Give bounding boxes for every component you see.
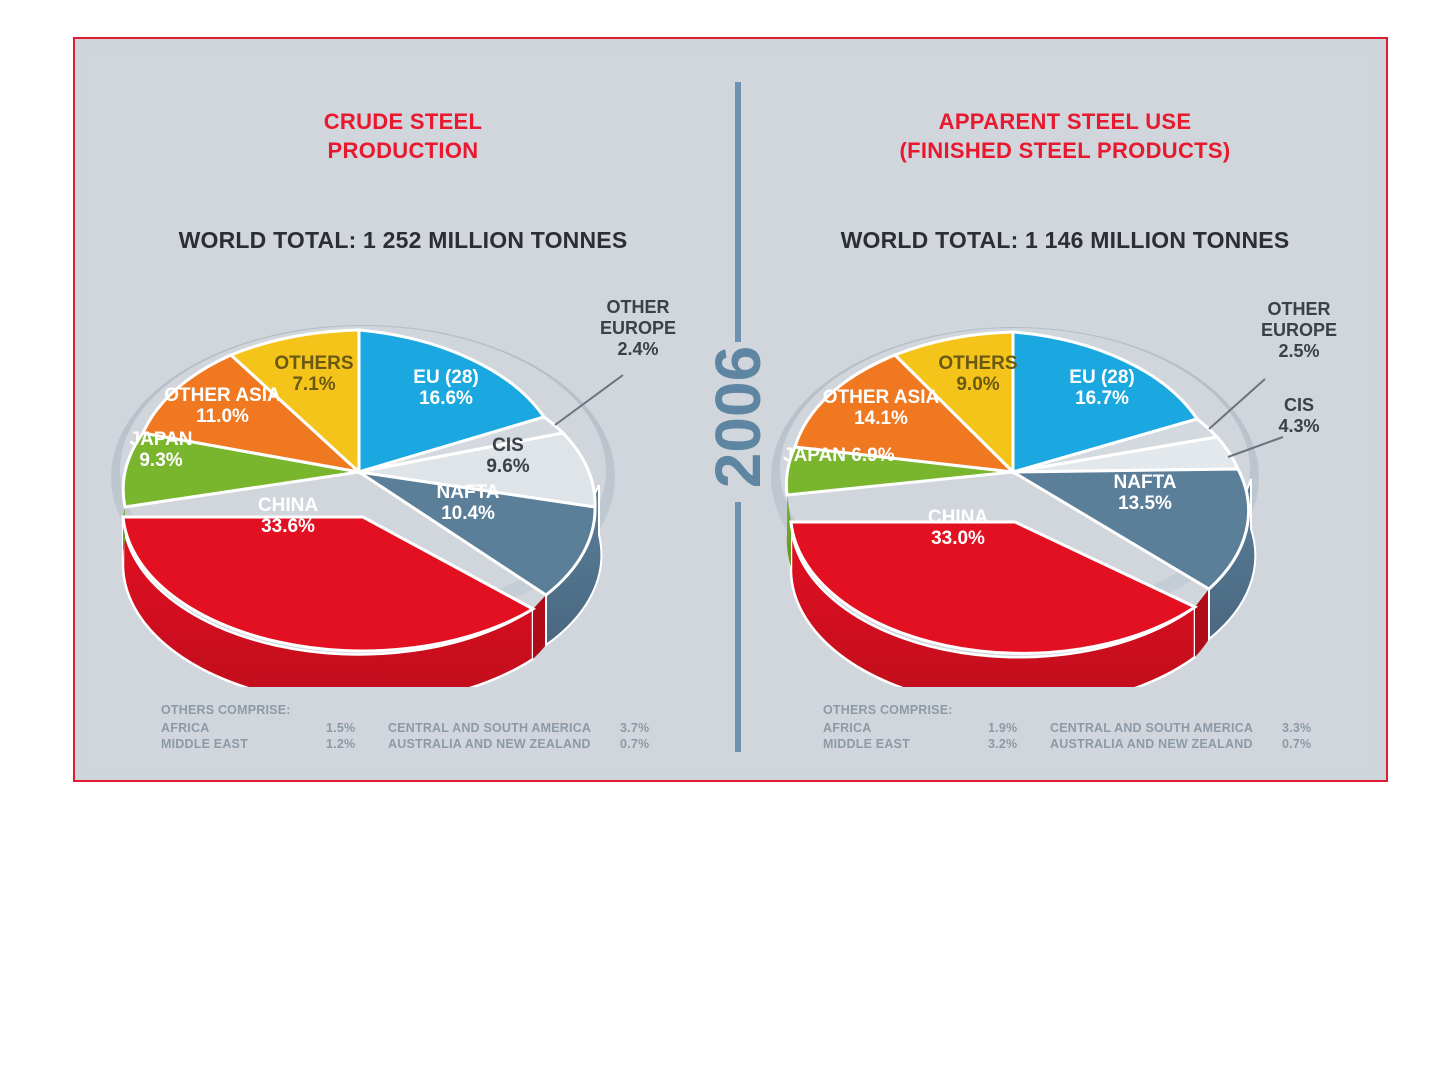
footnote-cell: 3.3% bbox=[1282, 720, 1343, 736]
table-row: AFRICA 1.9% CENTRAL AND SOUTH AMERICA 3.… bbox=[823, 720, 1343, 736]
table-row: MIDDLE EAST 3.2% AUSTRALIA AND NEW ZEALA… bbox=[823, 736, 1343, 752]
title-line-1: CRUDE STEEL bbox=[73, 107, 733, 136]
footnote-cell: 1.5% bbox=[326, 720, 388, 736]
footnote-cell: 1.9% bbox=[988, 720, 1050, 736]
footnote-right: OTHERS COMPRISE: AFRICA 1.9% CENTRAL AND… bbox=[823, 703, 1343, 752]
table-row: MIDDLE EAST 1.2% AUSTRALIA AND NEW ZEALA… bbox=[161, 736, 681, 752]
footnote-cell: 1.2% bbox=[326, 736, 388, 752]
footnote-cell: AUSTRALIA AND NEW ZEALAND bbox=[388, 736, 620, 752]
pie-chart-right: EU (28) 16.7% NAFTA 13.5% CHINA 33.0% JA… bbox=[765, 267, 1365, 687]
title-line-1: APPARENT STEEL USE bbox=[735, 107, 1395, 136]
callout-cis-right: CIS 4.3% bbox=[1235, 395, 1363, 437]
footnote-cell: 0.7% bbox=[620, 736, 681, 752]
footnote-cell: 3.7% bbox=[620, 720, 681, 736]
panel-crude-steel-production: CRUDE STEEL PRODUCTION WORLD TOTAL: 1 25… bbox=[73, 37, 733, 782]
footnote-table-left: AFRICA 1.5% CENTRAL AND SOUTH AMERICA 3.… bbox=[161, 720, 681, 752]
page-title-right: APPARENT STEEL USE (FINISHED STEEL PRODU… bbox=[735, 107, 1395, 165]
world-total-right: WORLD TOTAL: 1 146 MILLION TONNES bbox=[735, 227, 1395, 254]
footnote-cell: MIDDLE EAST bbox=[823, 736, 988, 752]
footnote-cell: AUSTRALIA AND NEW ZEALAND bbox=[1050, 736, 1282, 752]
footnote-cell: MIDDLE EAST bbox=[161, 736, 326, 752]
footnote-cell: CENTRAL AND SOUTH AMERICA bbox=[1050, 720, 1282, 736]
footnote-cell: AFRICA bbox=[161, 720, 326, 736]
title-line-2: (FINISHED STEEL PRODUCTS) bbox=[735, 136, 1395, 165]
footnote-cell: CENTRAL AND SOUTH AMERICA bbox=[388, 720, 620, 736]
footnote-cell: 0.7% bbox=[1282, 736, 1343, 752]
footnote-heading-right: OTHERS COMPRISE: bbox=[823, 703, 1343, 717]
title-line-2: PRODUCTION bbox=[73, 136, 733, 165]
pie-slice-side-china-edge-right bbox=[1195, 589, 1209, 657]
divider-line-bottom bbox=[735, 502, 741, 752]
callout-other-europe-right: OTHER EUROPE 2.5% bbox=[1235, 299, 1363, 362]
footnote-cell: AFRICA bbox=[823, 720, 988, 736]
table-row: AFRICA 1.5% CENTRAL AND SOUTH AMERICA 3.… bbox=[161, 720, 681, 736]
callout-other-europe-left: OTHER EUROPE 2.4% bbox=[573, 297, 703, 360]
page-title-left: CRUDE STEEL PRODUCTION bbox=[73, 107, 733, 165]
center-divider: 2006 bbox=[735, 37, 741, 782]
footnote-heading-left: OTHERS COMPRISE: bbox=[161, 703, 681, 717]
pie-chart-left: EU (28) 16.6% CIS 9.6% NAFTA 10.4% CHINA… bbox=[103, 267, 703, 687]
year-label: 2006 bbox=[691, 337, 785, 497]
footnote-left: OTHERS COMPRISE: AFRICA 1.5% CENTRAL AND… bbox=[161, 703, 681, 752]
footnote-table-right: AFRICA 1.9% CENTRAL AND SOUTH AMERICA 3.… bbox=[823, 720, 1343, 752]
year-label-text: 2006 bbox=[706, 346, 770, 488]
divider-line-top bbox=[735, 82, 741, 342]
panel-apparent-steel-use: APPARENT STEEL USE (FINISHED STEEL PRODU… bbox=[735, 37, 1395, 782]
world-total-left: WORLD TOTAL: 1 252 MILLION TONNES bbox=[73, 227, 733, 254]
footnote-cell: 3.2% bbox=[988, 736, 1050, 752]
infographic-root: CRUDE STEEL PRODUCTION WORLD TOTAL: 1 25… bbox=[0, 0, 1440, 1080]
pie-slice-side-china-edge-left bbox=[533, 595, 546, 659]
